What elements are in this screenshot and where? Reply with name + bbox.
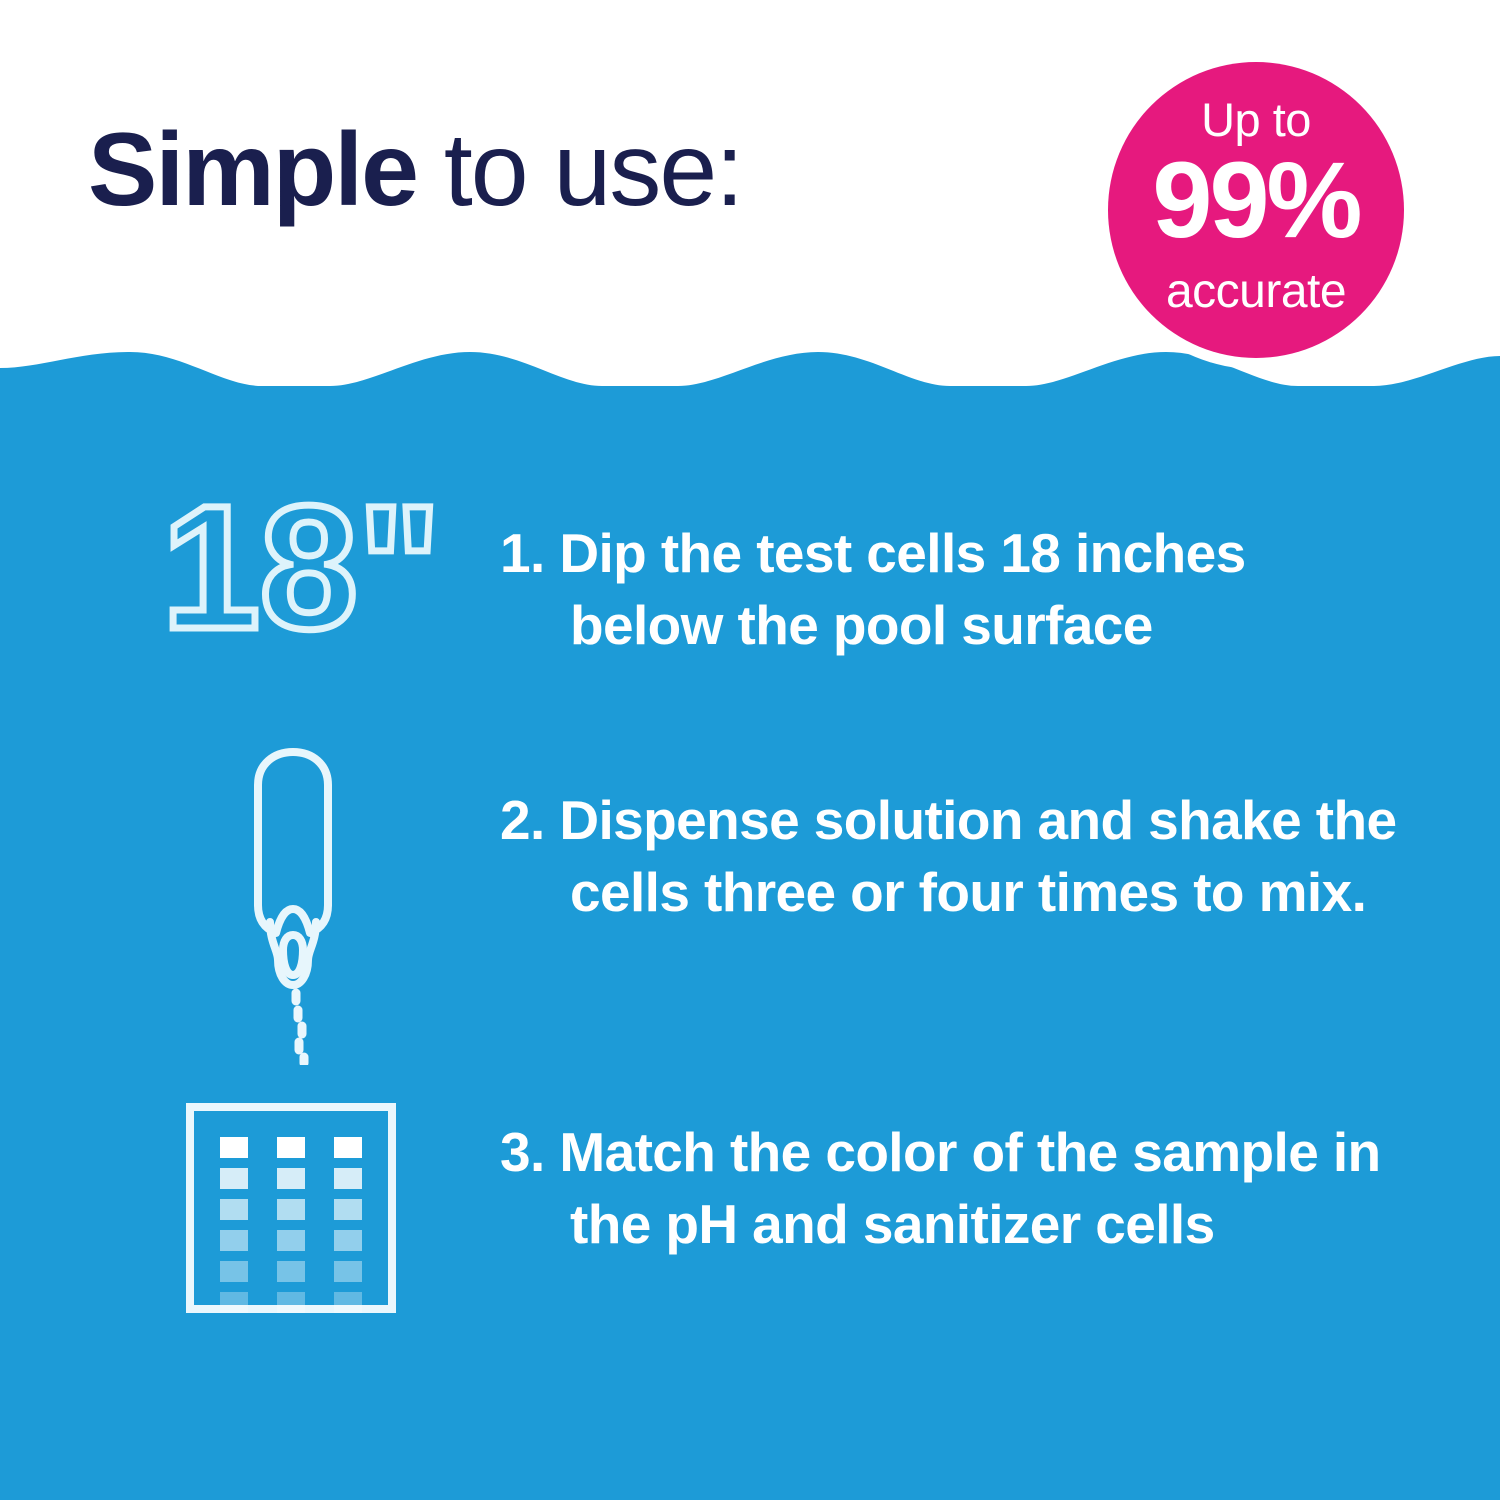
color-swatch (220, 1199, 248, 1220)
color-swatch (334, 1230, 362, 1251)
step-item-3: 3. Match the color of the sample in the … (150, 1095, 1450, 1305)
page-title-strong: Simple (88, 112, 417, 228)
badge-line-up-to: Up to (1108, 96, 1404, 143)
depth-18-inches-label: 18" (162, 476, 441, 651)
color-swatch (277, 1261, 305, 1282)
step-3-icon-slot (150, 1095, 500, 1305)
color-swatch (220, 1137, 248, 1158)
accuracy-badge: Up to 99% accurate (1108, 62, 1404, 358)
step-2-body: Dispense solution and shake the cells th… (559, 789, 1396, 923)
step-3-number: 3. (500, 1121, 545, 1183)
page-title-light: to use: (417, 112, 742, 228)
badge-line-percent: 99% (1108, 146, 1404, 254)
color-swatch (334, 1199, 362, 1220)
color-swatch (220, 1261, 248, 1282)
color-swatch (220, 1292, 248, 1313)
step-1-body: Dip the test cells 18 inches below the p… (559, 522, 1245, 656)
step-item-2: 2. Dispense solution and shake the cells… (150, 745, 1440, 1065)
step-item-1: 18" 1. Dip the test cells 18 inches belo… (150, 470, 1440, 661)
color-swatch (277, 1137, 305, 1158)
color-swatch (277, 1199, 305, 1220)
step-1-number: 1. (500, 522, 545, 584)
depth-18-inches-icon: 18" (158, 476, 488, 651)
color-swatch (220, 1230, 248, 1251)
step-2-number: 2. (500, 789, 545, 851)
color-swatch (334, 1168, 362, 1189)
page-title: Simple to use: (88, 118, 742, 222)
color-swatch (277, 1230, 305, 1251)
color-swatch (334, 1261, 362, 1282)
step-3-text: 3. Match the color of the sample in the … (500, 1095, 1450, 1260)
color-swatch (277, 1292, 305, 1313)
step-2-text: 2. Dispense solution and shake the cells… (500, 745, 1400, 928)
color-swatch (277, 1168, 305, 1189)
color-swatch (334, 1292, 362, 1313)
color-match-grid-icon (186, 1103, 396, 1313)
step-1-icon-slot: 18" (150, 470, 500, 645)
color-swatch (334, 1137, 362, 1158)
step-2-icon-slot (150, 745, 500, 1065)
badge-line-accurate: accurate (1108, 268, 1404, 316)
color-swatch-grid (215, 1137, 367, 1287)
infographic-canvas: Simple to use: Up to 99% accurate 18" 1.… (0, 0, 1500, 1500)
step-3-body: Match the color of the sample in the pH … (559, 1121, 1380, 1255)
color-swatch (220, 1168, 248, 1189)
dropper-bottle-icon (220, 745, 390, 1065)
step-1-text: 1. Dip the test cells 18 inches below th… (500, 470, 1360, 661)
